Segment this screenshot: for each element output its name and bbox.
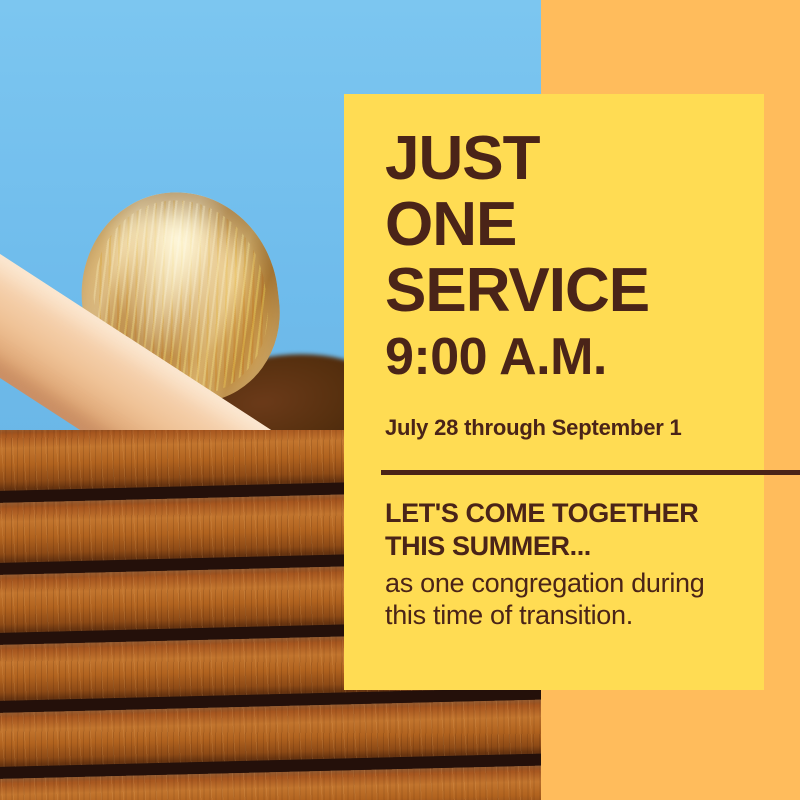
bench-slat: [0, 698, 541, 767]
headline-just-one-service: JUST ONE SERVICE: [385, 126, 649, 324]
tagline: LET'S COME TOGETHER THIS SUMMER...: [385, 497, 698, 563]
bench-slat: [0, 764, 541, 800]
service-time: 9:00 A.M.: [385, 329, 607, 385]
date-range: July 28 through September 1: [385, 414, 682, 442]
divider-rule: [381, 470, 800, 475]
card-content: JUST ONE SERVICE 9:00 A.M. July 28 throu…: [385, 94, 764, 690]
subtext: as one congregation during this time of …: [385, 567, 704, 631]
poster-canvas: JUST ONE SERVICE 9:00 A.M. July 28 throu…: [0, 0, 800, 800]
yellow-text-card: JUST ONE SERVICE 9:00 A.M. July 28 throu…: [344, 94, 764, 690]
